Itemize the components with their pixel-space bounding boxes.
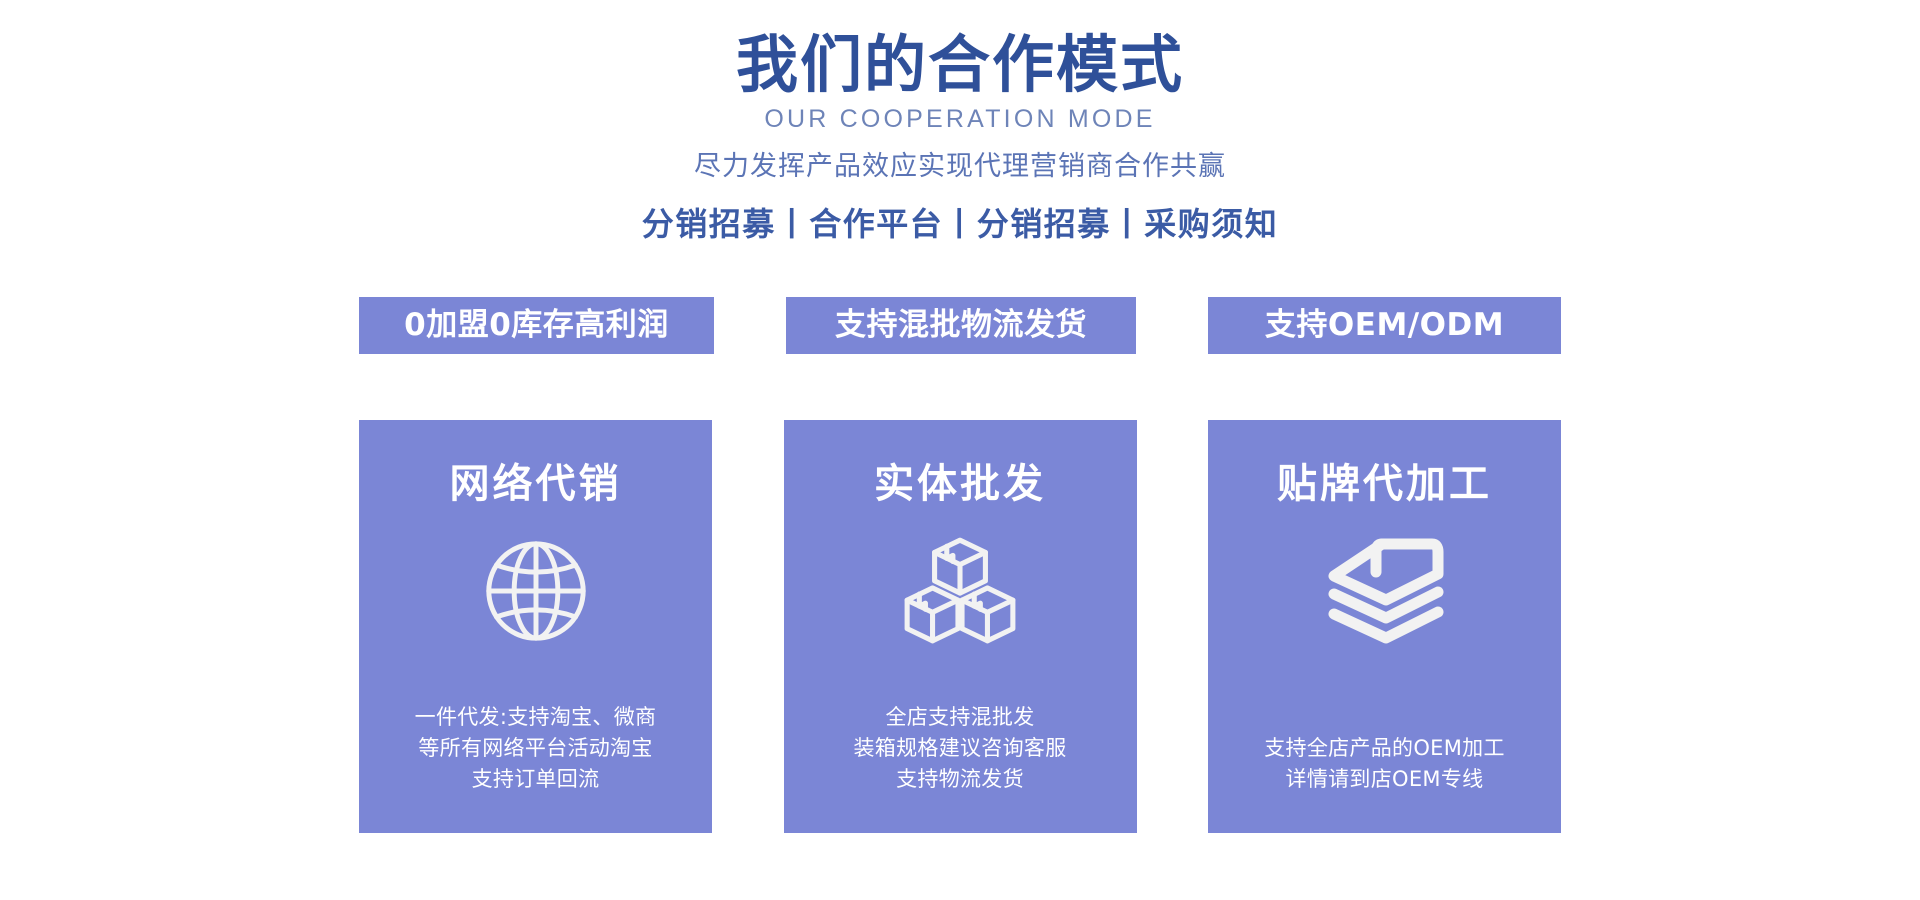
card-title-oem-processing: 贴牌代加工 — [1277, 420, 1492, 508]
page-tagline: 尽力发挥产品效应实现代理营销商合作共赢 — [0, 134, 1920, 184]
page-subtitle-english: OUR COOPERATION MODE — [0, 100, 1920, 134]
card-title-online-distribution: 网络代销 — [450, 420, 622, 508]
card-desc-physical-wholesale: 全店支持混批发 装箱规格建议咨询客服 支持物流发货 — [784, 702, 1137, 795]
card-online-distribution[interactable]: 网络代销 一件代发:支持淘宝、微商 等所有网络平台活动淘宝 支持订单回流 — [359, 420, 712, 833]
page-header: 我们的合作模式 OUR COOPERATION MODE 尽力发挥产品效应实现代… — [0, 0, 1920, 244]
card-physical-wholesale[interactable]: 实体批发 — [784, 420, 1137, 833]
badge-zero-franchise[interactable]: 0加盟0库存高利润 — [359, 297, 714, 354]
cards-row: 网络代销 一件代发:支持淘宝、微商 等所有网络平台活动淘宝 支持订单回流 实体批… — [359, 420, 1561, 833]
card-desc-oem-processing: 支持全店产品的OEM加工 详情请到店OEM专线 — [1208, 733, 1561, 795]
card-title-physical-wholesale: 实体批发 — [874, 420, 1046, 508]
cooperation-mode-page: 我们的合作模式 OUR COOPERATION MODE 尽力发挥产品效应实现代… — [0, 0, 1920, 900]
card-oem-processing[interactable]: 贴牌代加工 支持全店产品的OEM加工 详情请到店OEM专线 — [1208, 420, 1561, 833]
badge-mixed-wholesale-shipping[interactable]: 支持混批物流发货 — [786, 297, 1136, 354]
page-title: 我们的合作模式 — [0, 0, 1920, 100]
card-desc-online-distribution: 一件代发:支持淘宝、微商 等所有网络平台活动淘宝 支持订单回流 — [359, 702, 712, 795]
boxes-icon — [895, 526, 1025, 656]
page-nav-links[interactable]: 分销招募丨合作平台丨分销招募丨采购须知 — [0, 184, 1920, 244]
layers-icon — [1320, 526, 1450, 656]
badge-row: 0加盟0库存高利润 支持混批物流发货 支持OEM/ODM — [359, 297, 1561, 354]
badge-oem-odm[interactable]: 支持OEM/ODM — [1208, 297, 1561, 354]
globe-icon — [471, 526, 601, 656]
